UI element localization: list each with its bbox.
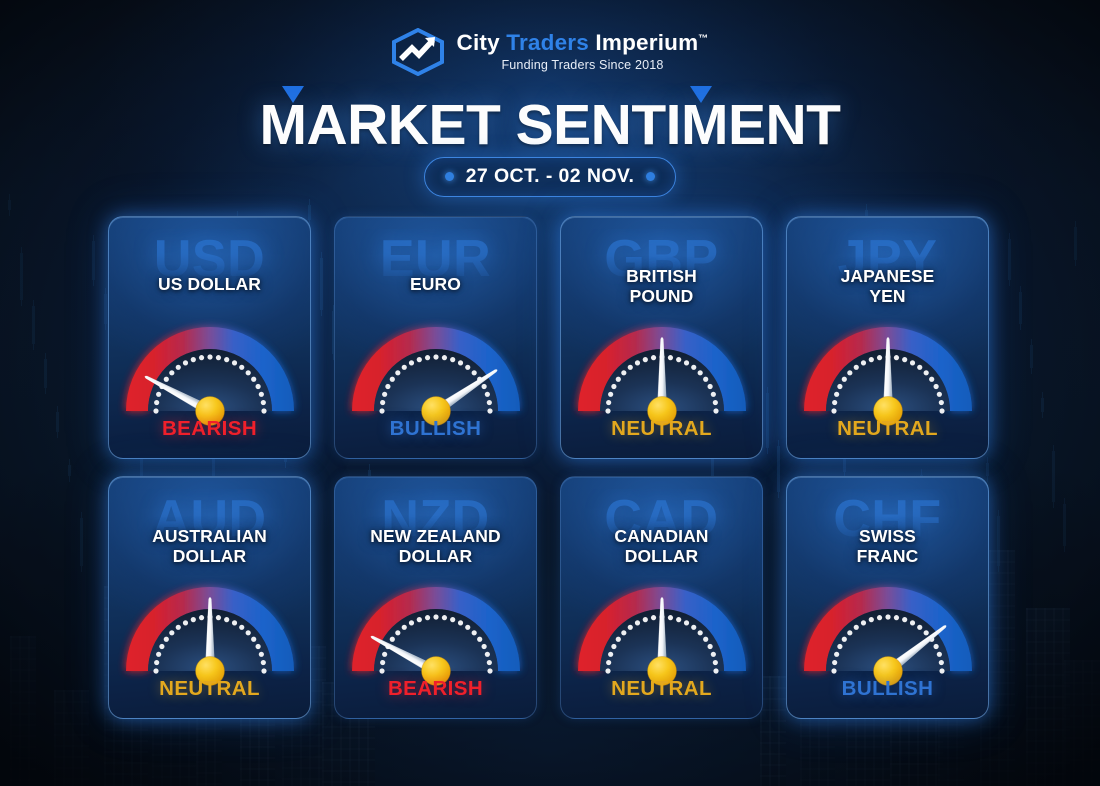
currency-name-line: DOLLAR [173,546,247,566]
currency-name-line: US DOLLAR [158,274,261,294]
currency-card-cad[interactable]: CADCANADIANDOLLAR [560,476,763,719]
brand-name-city: City [457,30,500,55]
currency-name-line: CANADIAN [614,526,708,546]
sentiment-status-label: NEUTRAL [561,417,762,441]
sentiment-gauge [348,318,524,417]
sentiment-gauge [800,578,976,677]
page-title-text: MARKET SENTIMENT [260,93,841,157]
currency-card-eur[interactable]: EUREURO [334,216,537,459]
currency-name-line: DOLLAR [399,546,473,566]
sentiment-gauge [574,318,750,417]
currency-name: NEW ZEALANDDOLLAR [343,527,528,566]
currency-name: CANADIANDOLLAR [569,527,754,566]
brand-tagline: Funding Traders Since 2018 [457,59,709,72]
date-range-text: 27 OCT. - 02 NOV. [466,165,635,188]
currency-card-gbp[interactable]: GBPBRITISHPOUND [560,216,763,459]
chart-arrow-logo-icon [392,28,444,76]
page-title-wrapper: MARKET SENTIMENT [0,92,1100,158]
brand-name-traders: Traders [506,30,589,55]
currency-name-line: POUND [630,286,694,306]
currency-name: JAPANESEYEN [795,267,980,306]
sentiment-gauge [574,578,750,677]
currency-card-aud[interactable]: AUDAUSTRALIANDOLLAR [108,476,311,719]
currency-name: SWISSFRANC [795,527,980,566]
sentiment-status-label: NEUTRAL [787,417,988,441]
page-title: MARKET SENTIMENT [260,92,841,158]
currency-name-line: FRANC [857,546,919,566]
dot-right-icon [646,172,655,181]
currency-card-nzd[interactable]: NZDNEW ZEALANDDOLLAR [334,476,537,719]
currency-name: US DOLLAR [117,275,302,295]
sentiment-gauge [348,578,524,677]
currency-card-chf[interactable]: CHFSWISSFRANC [786,476,989,719]
currency-card-usd[interactable]: USDUS DOLLAR [108,216,311,459]
sentiment-gauge [122,318,298,417]
currency-name-line: SWISS [859,526,916,546]
currency-name-line: BRITISH [626,266,697,286]
date-range-wrapper: 27 OCT. - 02 NOV. [0,157,1100,197]
currency-name: BRITISHPOUND [569,267,754,306]
date-range-badge: 27 OCT. - 02 NOV. [424,157,677,197]
brand-logo: City Traders Imperium™ Funding Traders S… [0,28,1100,76]
trademark-symbol: ™ [698,33,708,44]
currency-name-line: DOLLAR [625,546,699,566]
currency-name-line: NEW ZEALAND [370,526,500,546]
currency-name-line: YEN [869,286,905,306]
currency-name-line: JAPANESE [841,266,935,286]
sentiment-gauge [800,318,976,417]
sentiment-status-label: NEUTRAL [109,677,310,701]
brand-name: City Traders Imperium™ [457,32,709,55]
sentiment-status-label: NEUTRAL [561,677,762,701]
currency-name-line: EURO [410,274,461,294]
currency-name: EURO [343,275,528,295]
sentiment-status-label: BULLISH [335,417,536,441]
sentiment-status-label: BULLISH [787,677,988,701]
sentiment-status-label: BEARISH [335,677,536,701]
sentiment-gauge [122,578,298,677]
dot-left-icon [445,172,454,181]
currency-name-line: AUSTRALIAN [152,526,267,546]
sentiment-status-label: BEARISH [109,417,310,441]
currency-gauge-grid: USDUS DOLLAR [108,216,989,719]
brand-name-imperium: Imperium [595,30,698,55]
currency-name: AUSTRALIANDOLLAR [117,527,302,566]
currency-card-jpy[interactable]: JPYJAPANESEYEN [786,216,989,459]
